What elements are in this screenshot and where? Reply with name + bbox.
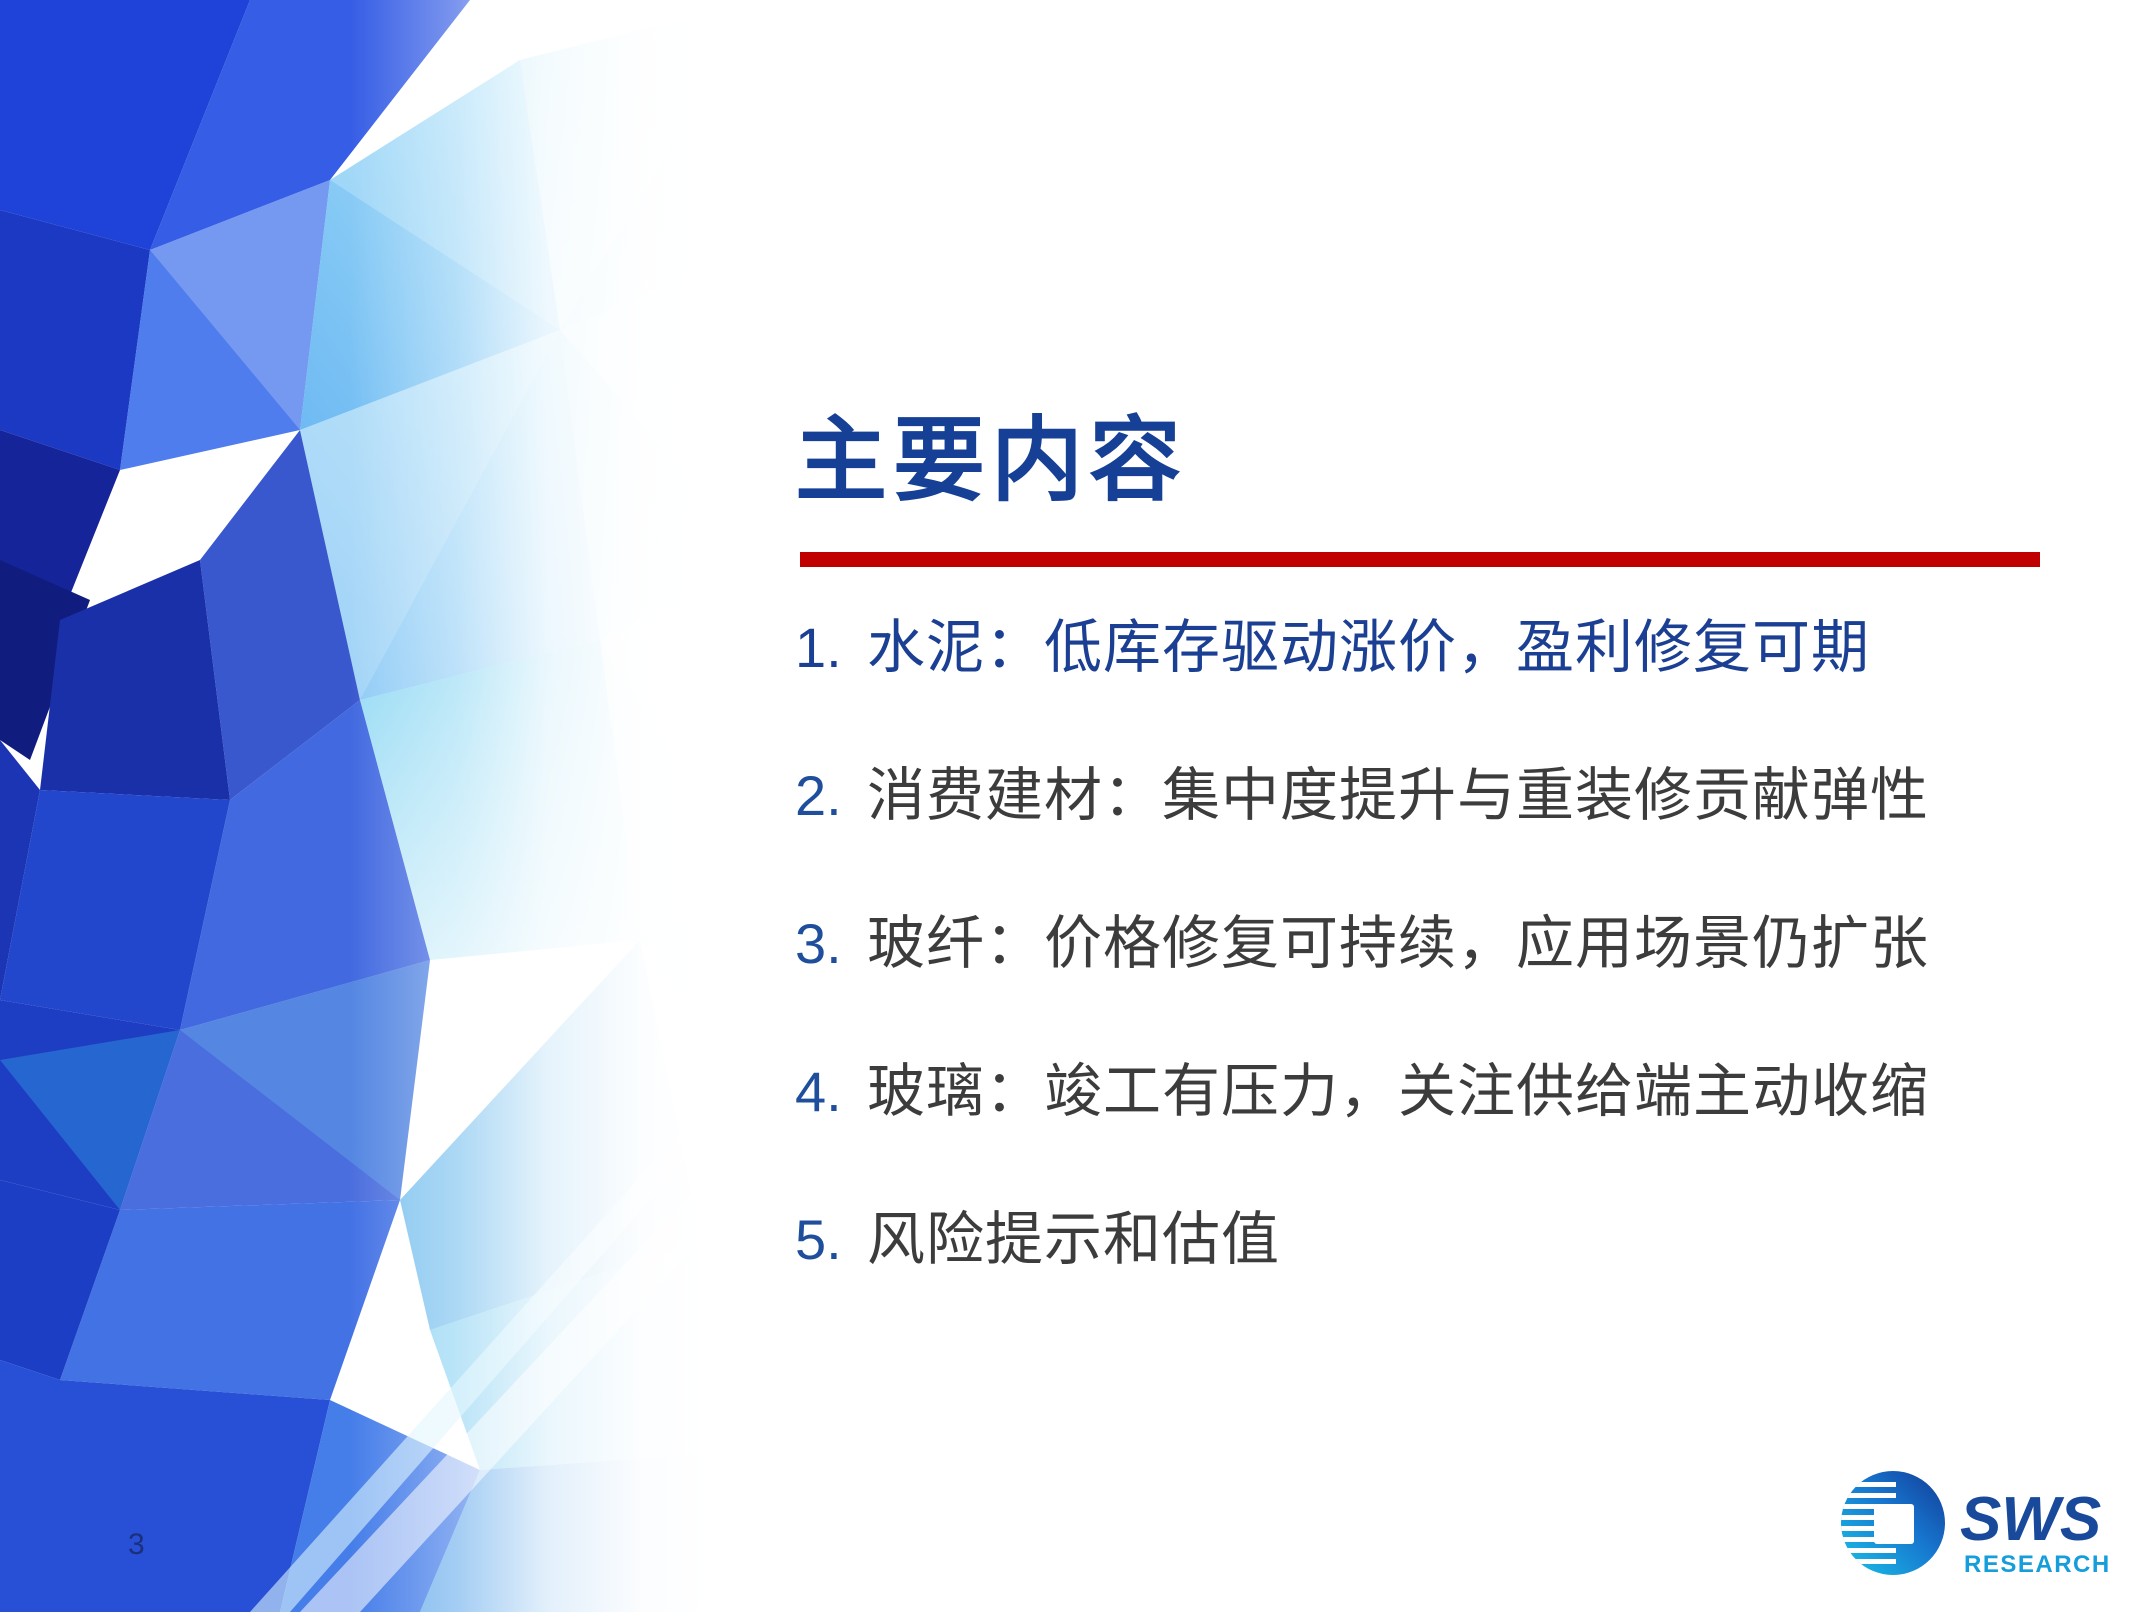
- agenda-item-4-number: 4.: [795, 1059, 867, 1124]
- agenda-item-1-label: 水泥：低库存驱动涨价，盈利修复可期: [867, 600, 1870, 684]
- agenda-list: 1. 水泥：低库存驱动涨价，盈利修复可期 2. 消费建材：集中度提升与重装修贡献…: [795, 600, 2095, 1340]
- agenda-item-2-number: 2.: [795, 763, 867, 828]
- sws-research-logo: SWS RESEARCH: [1838, 1468, 2108, 1593]
- agenda-item-5[interactable]: 5. 风险提示和估值: [795, 1192, 2095, 1340]
- agenda-item-5-number: 5.: [795, 1207, 867, 1272]
- agenda-item-1[interactable]: 1. 水泥：低库存驱动涨价，盈利修复可期: [795, 600, 2095, 748]
- sws-wordmark: SWS: [1960, 1485, 2101, 1554]
- decorative-polygon-panel: [0, 0, 760, 1612]
- slide-root: 3 主要内容 1. 水泥：低库存驱动涨价，盈利修复可期 2. 消费建材：集中度提…: [0, 0, 2150, 1612]
- agenda-item-2[interactable]: 2. 消费建材：集中度提升与重装修贡献弹性: [795, 748, 2095, 896]
- agenda-item-5-label: 风险提示和估值: [867, 1192, 1280, 1276]
- sws-logo-artwork: SWS RESEARCH: [1838, 1468, 2108, 1593]
- title-underline-rule: [800, 552, 2040, 567]
- agenda-item-1-number: 1.: [795, 615, 867, 680]
- page-number: 3: [128, 1528, 145, 1562]
- sws-circle-mark: [1838, 1471, 1945, 1575]
- agenda-item-3-number: 3.: [795, 911, 867, 976]
- agenda-item-2-label: 消费建材：集中度提升与重装修贡献弹性: [867, 748, 1929, 832]
- agenda-item-3[interactable]: 3. 玻纤：价格修复可持续，应用场景仍扩张: [795, 896, 2095, 1044]
- agenda-item-3-label: 玻纤：价格修复可持续，应用场景仍扩张: [867, 896, 1929, 980]
- agenda-item-4[interactable]: 4. 玻璃：竣工有压力，关注供给端主动收缩: [795, 1044, 2095, 1192]
- content-column: 主要内容 1. 水泥：低库存驱动涨价，盈利修复可期 2. 消费建材：集中度提升与…: [795, 0, 2085, 1612]
- polygon-artwork: [0, 0, 760, 1612]
- sws-subtitle: RESEARCH: [1964, 1551, 2108, 1578]
- page-title: 主要内容: [795, 415, 1187, 507]
- agenda-item-4-label: 玻璃：竣工有压力，关注供给端主动收缩: [867, 1044, 1929, 1128]
